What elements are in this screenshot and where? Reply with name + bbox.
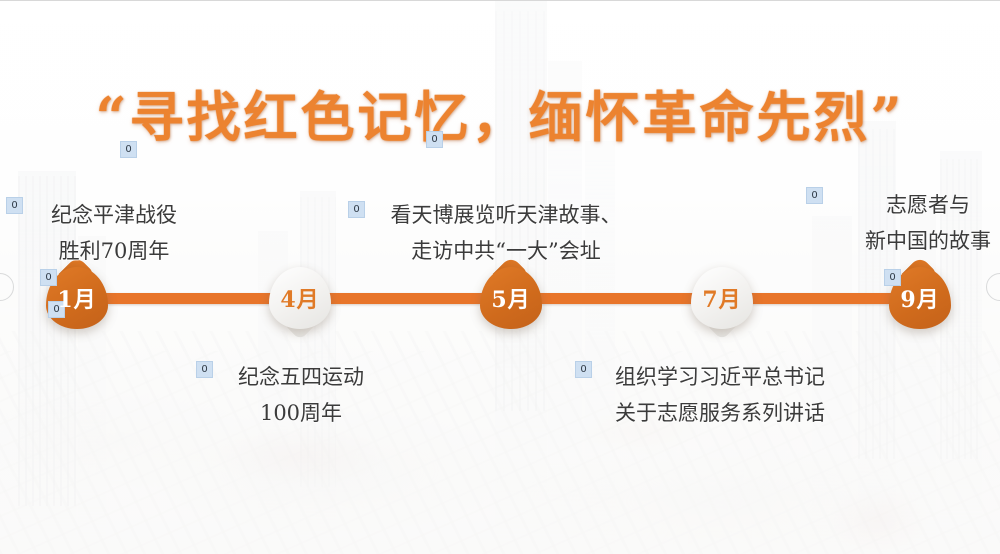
marker-month-label: 7月: [691, 267, 753, 329]
decorative-circle-right: [986, 273, 1000, 301]
timeline-marker-7月[interactable]: 7月: [691, 267, 753, 329]
timeline-marker-4月[interactable]: 4月: [269, 267, 331, 329]
caption-line: 志愿者与: [848, 187, 1000, 223]
caption-line: 纪念五四运动: [196, 359, 406, 395]
caption-line: 走访中共“一大”会址: [356, 233, 656, 269]
caption-line: 组织学习习近平总书记: [575, 359, 865, 395]
annotation-chip: 0: [806, 187, 823, 204]
timeline-marker-1月[interactable]: 1月: [46, 267, 108, 329]
marker-month-label: 9月: [889, 267, 951, 329]
page-title: “寻找红色记忆，缅怀革命先烈”: [0, 73, 1000, 152]
caption-line: 100周年: [196, 395, 406, 431]
annotation-chip: 0: [196, 361, 213, 378]
timeline-caption-4月: 纪念五四运动100周年: [196, 359, 406, 431]
timeline-poster: “寻找红色记忆，缅怀革命先烈” 1月4月5月7月9月 纪念平津战役胜利70周年纪…: [0, 0, 1000, 554]
timeline-caption-5月: 看天博展览听天津故事、走访中共“一大”会址: [356, 197, 656, 269]
annotation-chip: 0: [120, 141, 137, 158]
caption-line: 纪念平津战役: [14, 197, 214, 233]
timeline-caption-7月: 组织学习习近平总书记关于志愿服务系列讲话: [575, 359, 865, 431]
marker-month-label: 1月: [46, 267, 108, 329]
timeline-caption-1月: 纪念平津战役胜利70周年: [14, 197, 214, 269]
decorative-circle-left: [0, 273, 14, 301]
timeline-marker-5月[interactable]: 5月: [480, 267, 542, 329]
annotation-chip: 0: [426, 131, 443, 148]
annotation-chip: 0: [575, 361, 592, 378]
annotation-chip: 0: [348, 201, 365, 218]
marker-month-label: 4月: [269, 267, 331, 329]
annotation-chip: 0: [6, 197, 23, 214]
timeline-caption-9月: 志愿者与新中国的故事: [848, 187, 1000, 259]
caption-line: 新中国的故事: [848, 223, 1000, 259]
caption-line: 胜利70周年: [14, 233, 214, 269]
marker-month-label: 5月: [480, 267, 542, 329]
timeline-marker-9月[interactable]: 9月: [889, 267, 951, 329]
caption-line: 看天博展览听天津故事、: [356, 197, 656, 233]
caption-line: 关于志愿服务系列讲话: [575, 395, 865, 431]
